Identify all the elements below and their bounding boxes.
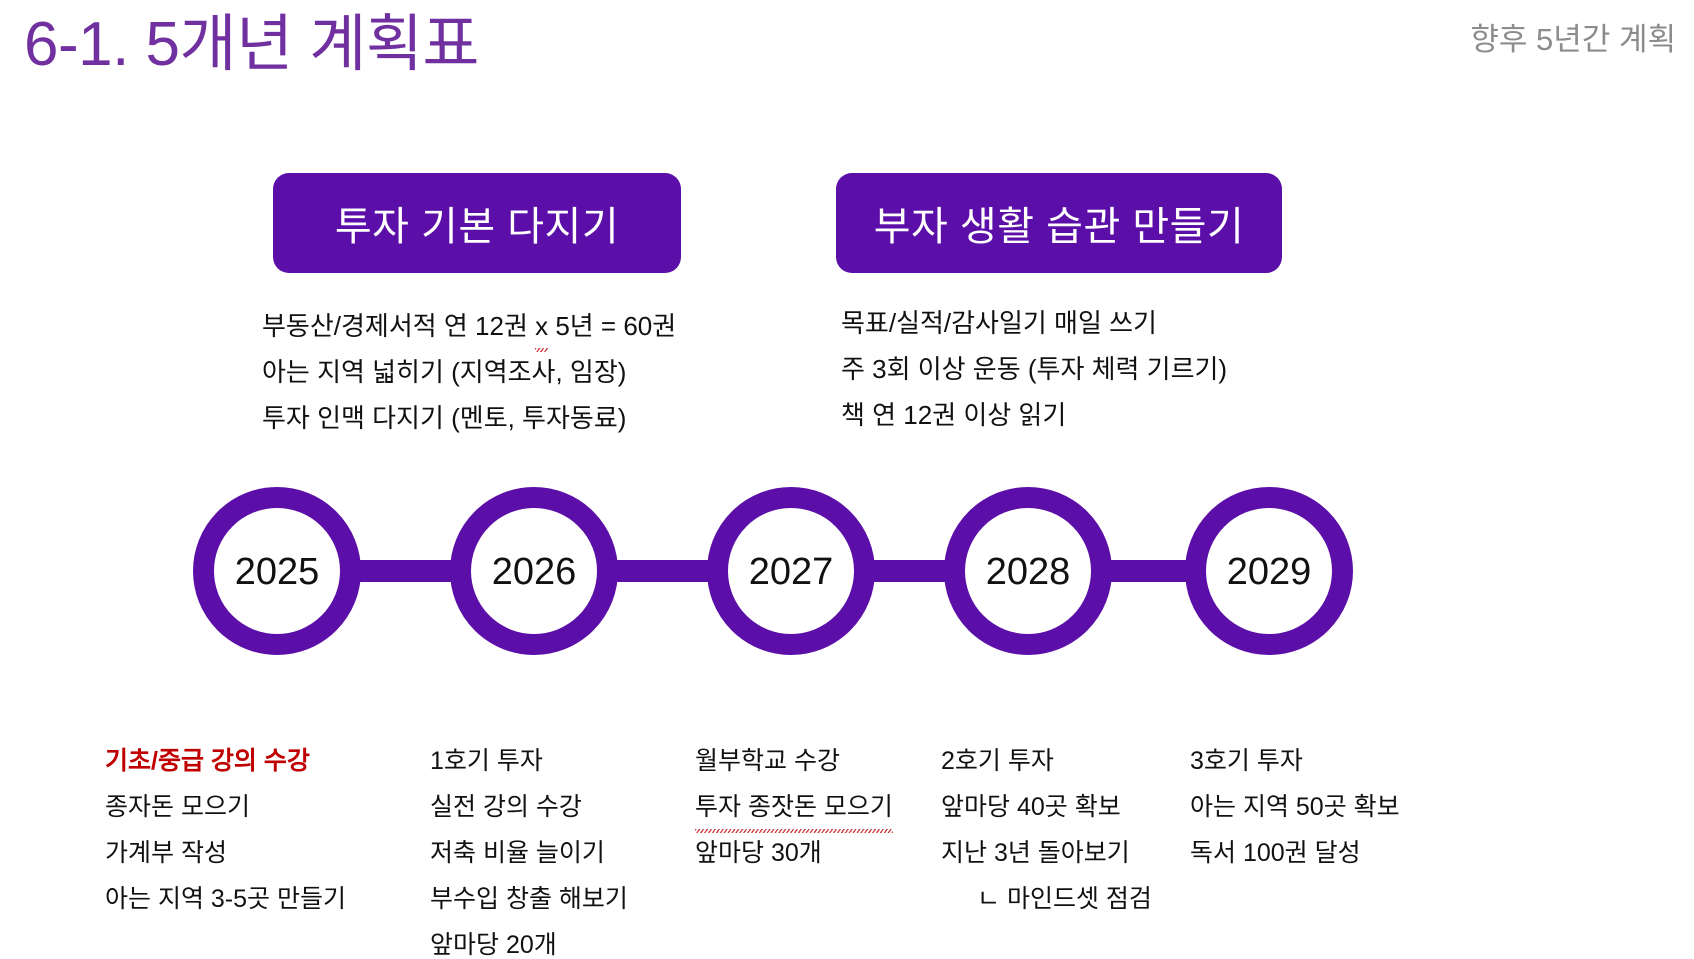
year-item: 독서 100권 달성 [1190,830,1400,876]
section-2-line: 책 연 12권 이상 읽기 [841,392,1227,438]
section-2-line: 주 3회 이상 운동 (투자 체력 기르기) [841,346,1227,392]
slide-subtitle: 향후 5년간 계획 [1470,20,1676,60]
timeline-connector [612,560,712,582]
year-item-label: 2호기 투자 [941,747,1054,775]
year-item: 아는 지역 3-5곳 만들기 [105,876,346,922]
year-item-label: 가계부 작성 [105,839,227,867]
timeline: 20252026202720282029 [0,487,1694,665]
section-1-line: 부동산/경제서적 연 12권 x 5년 = 60권 [262,303,676,349]
year-column-2025: 기초/중급 강의 수강종자돈 모으기가계부 작성아는 지역 3-5곳 만들기 [105,738,346,922]
section-body-2: 목표/실적/감사일기 매일 쓰기주 3회 이상 운동 (투자 체력 기르기)책 … [841,300,1227,438]
year-item-label: 앞마당 30개 [695,839,822,867]
year-item: 월부학교 수강 [695,738,893,784]
section-2-line: 목표/실적/감사일기 매일 쓰기 [841,300,1227,346]
timeline-connector [355,560,455,582]
section-body-1: 부동산/경제서적 연 12권 x 5년 = 60권아는 지역 넓히기 (지역조사… [262,303,676,441]
section-1-line: 아는 지역 넓히기 (지역조사, 임장) [262,349,676,395]
year-item-label: 앞마당 20개 [430,931,557,959]
year-column-2026: 1호기 투자실전 강의 수강저축 비율 늘이기부수입 창출 해보기앞마당 20개 [430,738,628,959]
slide-canvas: 6-1. 5개년 계획표 향후 5년간 계획 투자 기본 다지기 부자 생활 습… [0,0,1694,959]
timeline-node-year-label: 2029 [1227,553,1312,591]
year-column-2028: 2호기 투자앞마당 40곳 확보지난 3년 돌아보기ㄴ 마인드셋 점검 [941,738,1152,922]
year-item: ㄴ 마인드셋 점검 [941,876,1152,922]
year-item: 앞마당 40곳 확보 [941,784,1152,830]
year-item-label: 1호기 투자 [430,747,543,775]
year-item-label: 기초/중급 강의 수강 [105,747,310,775]
year-item-label: 앞마당 40곳 확보 [941,793,1121,821]
year-item-label: 월부학교 수강 [695,747,840,775]
section-header-pill-1-label: 투자 기본 다지기 [335,194,619,252]
timeline-node-2026[interactable]: 2026 [450,487,618,655]
timeline-node-year-label: 2026 [492,553,577,591]
year-item: 지난 3년 돌아보기 [941,830,1152,876]
timeline-node-2029[interactable]: 2029 [1185,487,1353,655]
line-text: 부동산/경제서적 연 12권 [262,311,535,341]
section-header-pill-2-label: 부자 생활 습관 만들기 [874,194,1245,252]
year-item-label: 실전 강의 수강 [430,793,582,821]
year-item: 저축 비율 늘이기 [430,830,628,876]
year-item: 종자돈 모으기 [105,784,346,830]
line-text: 아는 지역 넓히기 (지역조사, 임장) [262,357,626,387]
year-item-label: ㄴ 마인드셋 점검 [977,885,1152,913]
line-text-tail: 5년 = 60권 [548,311,676,341]
year-item-label: 독서 100권 달성 [1190,839,1361,867]
timeline-connector [869,560,949,582]
timeline-connector [1106,560,1190,582]
year-column-2029: 3호기 투자아는 지역 50곳 확보독서 100권 달성 [1190,738,1400,876]
timeline-node-2027[interactable]: 2027 [707,487,875,655]
year-item: 투자 종잣돈 모으기 [695,784,893,830]
year-column-2027: 월부학교 수강투자 종잣돈 모으기앞마당 30개 [695,738,893,876]
year-item: 2호기 투자 [941,738,1152,784]
timeline-node-2028[interactable]: 2028 [944,487,1112,655]
year-item: 실전 강의 수강 [430,784,628,830]
year-item: 아는 지역 50곳 확보 [1190,784,1400,830]
timeline-node-year-label: 2027 [749,553,834,591]
year-item: 기초/중급 강의 수강 [105,738,346,784]
year-item-label: 아는 지역 3-5곳 만들기 [105,885,346,913]
year-item: 1호기 투자 [430,738,628,784]
year-item: 부수입 창출 해보기 [430,876,628,922]
year-item-label: 부수입 창출 해보기 [430,885,628,913]
year-item: 앞마당 30개 [695,830,893,876]
year-item-label: 종자돈 모으기 [105,793,250,821]
year-item-label: 3호기 투자 [1190,747,1303,775]
timeline-node-year-label: 2025 [235,553,320,591]
year-item: 앞마당 20개 [430,922,628,959]
year-item-label: 아는 지역 50곳 확보 [1190,793,1400,821]
timeline-node-year-label: 2028 [986,553,1071,591]
line-text: 주 3회 이상 운동 (투자 체력 기르기) [841,354,1227,384]
section-header-pill-2: 부자 생활 습관 만들기 [836,173,1282,273]
section-header-pill-1: 투자 기본 다지기 [273,173,681,273]
line-text: 책 연 12권 이상 읽기 [841,400,1066,430]
spellcheck-flagged-token: 투자 종잣돈 모으기 [695,784,893,830]
spellcheck-flagged-token: x [535,303,548,349]
line-text: 목표/실적/감사일기 매일 쓰기 [841,308,1157,338]
section-1-line: 투자 인맥 다지기 (멘토, 투자동료) [262,395,676,441]
timeline-node-2025[interactable]: 2025 [193,487,361,655]
year-item: 3호기 투자 [1190,738,1400,784]
page-title: 6-1. 5개년 계획표 [24,6,479,84]
year-item-label: 지난 3년 돌아보기 [941,839,1130,867]
year-item-label: 저축 비율 늘이기 [430,839,605,867]
line-text: 투자 인맥 다지기 (멘토, 투자동료) [262,403,626,433]
year-item: 가계부 작성 [105,830,346,876]
